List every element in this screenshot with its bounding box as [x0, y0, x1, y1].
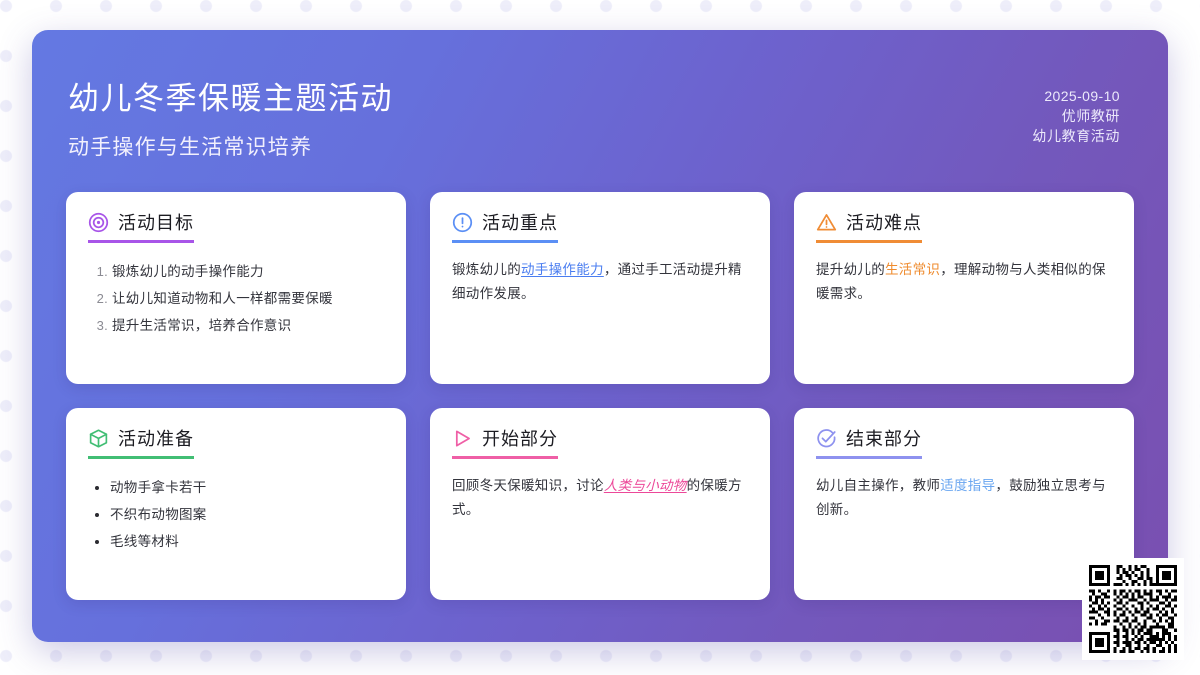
keyword-highlight: 适度指导: [940, 478, 995, 493]
card-header: 活动重点: [452, 212, 558, 243]
qr-code-graphic: [1089, 565, 1177, 653]
card-paragraph: 锻炼幼儿的动手操作能力，通过手工活动提升精细动作发展。: [452, 258, 748, 306]
keyword-highlight: 动手操作能力: [521, 262, 604, 277]
card-title: 活动目标: [118, 214, 194, 232]
list-item: 不织布动物图案: [110, 501, 384, 528]
list-item: 毛线等材料: [110, 528, 384, 555]
page-subtitle: 动手操作与生活常识培养: [68, 131, 393, 161]
check-circle-icon: [816, 428, 837, 449]
list-item: 让幼儿知道动物和人一样都需要保暖: [112, 285, 384, 312]
warning-triangle-icon: [816, 212, 837, 233]
list-item: 动物手拿卡若干: [110, 474, 384, 501]
package-box-icon: [88, 428, 109, 449]
paragraph-before: 提升幼儿的: [816, 262, 885, 277]
exclamation-circle-icon: [452, 212, 473, 233]
header-meta: 2025-09-10 优师教研 幼儿教育活动: [1032, 80, 1120, 146]
paragraph-before: 幼儿自主操作，教师: [816, 478, 940, 493]
card-title: 活动难点: [846, 214, 922, 232]
page-title: 幼儿冬季保暖主题活动: [68, 80, 393, 119]
keyword-highlight: 生活常识: [885, 262, 940, 277]
card-title: 活动重点: [482, 214, 558, 232]
target-icon: [88, 212, 109, 233]
list-item: 提升生活常识，培养合作意识: [112, 312, 384, 339]
card-title: 结束部分: [846, 430, 922, 448]
card-title: 开始部分: [482, 430, 558, 448]
card-activity-focus: 活动重点 锻炼幼儿的动手操作能力，通过手工活动提升精细动作发展。: [430, 192, 770, 384]
slide-panel: 幼儿冬季保暖主题活动 动手操作与生活常识培养 2025-09-10 优师教研 幼…: [32, 30, 1168, 642]
card-title: 活动准备: [118, 430, 194, 448]
keyword-highlight: 人类与小动物: [604, 478, 687, 493]
play-triangle-icon: [452, 428, 473, 449]
card-header: 结束部分: [816, 428, 922, 459]
card-header: 活动目标: [88, 212, 194, 243]
meta-category: 幼儿教育活动: [1032, 126, 1120, 146]
meta-org: 优师教研: [1032, 106, 1120, 126]
card-activity-preparation: 活动准备 动物手拿卡若干 不织布动物图案 毛线等材料: [66, 408, 406, 600]
card-header: 开始部分: [452, 428, 558, 459]
slide-header: 幼儿冬季保暖主题活动 动手操作与生活常识培养 2025-09-10 优师教研 幼…: [32, 30, 1168, 192]
qr-code[interactable]: [1082, 558, 1184, 660]
title-block: 幼儿冬季保暖主题活动 动手操作与生活常识培养: [68, 80, 393, 161]
card-activity-start: 开始部分 回顾冬天保暖知识，讨论人类与小动物的保暖方式。: [430, 408, 770, 600]
card-paragraph: 幼儿自主操作，教师适度指导，鼓励独立思考与创新。: [816, 474, 1112, 522]
list-item: 锻炼幼儿的动手操作能力: [112, 258, 384, 285]
meta-date: 2025-09-10: [1032, 86, 1120, 106]
paragraph-before: 回顾冬天保暖知识，讨论: [452, 478, 604, 493]
paragraph-before: 锻炼幼儿的: [452, 262, 521, 277]
goal-list: 锻炼幼儿的动手操作能力 让幼儿知道动物和人一样都需要保暖 提升生活常识，培养合作…: [88, 258, 384, 339]
card-activity-difficulty: 活动难点 提升幼儿的生活常识，理解动物与人类相似的保暖需求。: [794, 192, 1134, 384]
card-paragraph: 回顾冬天保暖知识，讨论人类与小动物的保暖方式。: [452, 474, 748, 522]
card-grid: 活动目标 锻炼幼儿的动手操作能力 让幼儿知道动物和人一样都需要保暖 提升生活常识…: [66, 192, 1134, 600]
card-header: 活动准备: [88, 428, 194, 459]
card-paragraph: 提升幼儿的生活常识，理解动物与人类相似的保暖需求。: [816, 258, 1112, 306]
preparation-list: 动物手拿卡若干 不织布动物图案 毛线等材料: [88, 474, 384, 555]
card-activity-goal: 活动目标 锻炼幼儿的动手操作能力 让幼儿知道动物和人一样都需要保暖 提升生活常识…: [66, 192, 406, 384]
card-header: 活动难点: [816, 212, 922, 243]
